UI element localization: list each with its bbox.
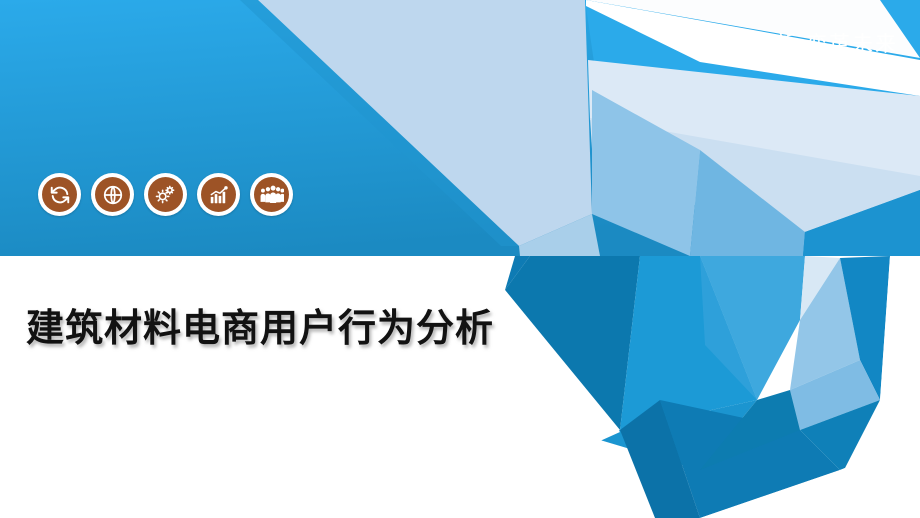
icon-badge-globe[interactable]	[91, 173, 134, 216]
refresh-arrow-icon	[42, 177, 77, 212]
page-title: 建筑材料电商用户行为分析	[26, 297, 494, 352]
icon-row	[38, 173, 293, 216]
page-white-bottom	[0, 441, 655, 518]
icon-badge-bar-chart[interactable]	[197, 173, 240, 216]
header-tagline: 数智创新 变革未来	[706, 28, 898, 58]
icon-badge-gears[interactable]	[144, 173, 187, 216]
icon-badge-refresh[interactable]	[38, 173, 81, 216]
icon-badge-people-group[interactable]	[250, 173, 293, 216]
bar-chart-icon	[201, 177, 236, 212]
gears-icon	[148, 177, 183, 212]
people-group-icon	[254, 177, 289, 212]
page-white-left	[0, 256, 505, 290]
background-artwork	[0, 0, 920, 518]
slide-canvas: 数智创新 变革未来	[0, 0, 920, 518]
globe-icon	[95, 177, 130, 212]
